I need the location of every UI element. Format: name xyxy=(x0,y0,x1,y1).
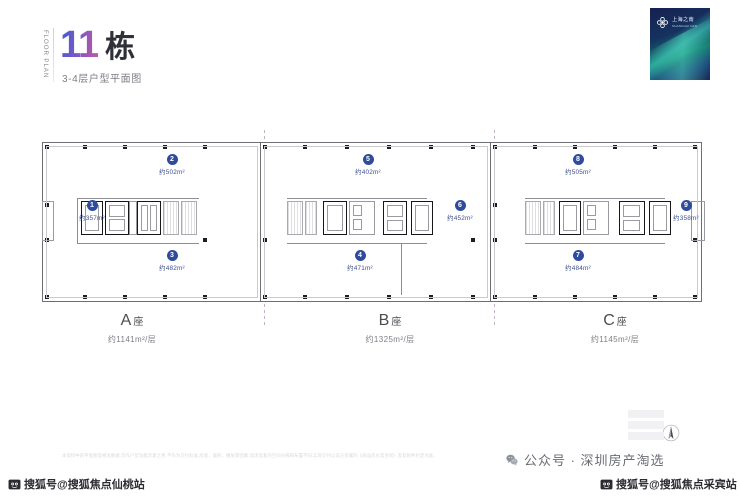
unit-badge-1: 1 xyxy=(87,200,98,211)
unit-marker-7[interactable]: 7 约484m² xyxy=(550,250,606,272)
public-account-watermark: 公众号 · 深圳房产淘选 xyxy=(505,450,665,469)
public-account-name: 公众号 · 深圳房产淘选 xyxy=(524,450,665,469)
unit-marker-3[interactable]: 3 约482m² xyxy=(144,250,200,272)
unit-marker-5[interactable]: 5 约402m² xyxy=(340,154,396,176)
tower-caption-b: B座 约1325m²/层 xyxy=(310,312,470,345)
page-subtitle: 3-4层户型平面图 xyxy=(62,70,142,85)
unit-badge-4: 4 xyxy=(355,250,366,261)
sohu-logo-icon xyxy=(8,478,21,491)
unit-badge-6: 6 xyxy=(455,200,466,211)
unit-badge-8: 8 xyxy=(573,154,584,165)
unit-area-1: 约357m² xyxy=(64,213,120,222)
unit-area-9: 约358m² xyxy=(658,213,714,222)
tower-c-area: 约1145m²/层 xyxy=(535,334,695,345)
unit-marker-6[interactable]: 6 约452m² xyxy=(432,200,488,222)
unit-area-5: 约402m² xyxy=(340,167,396,176)
tower-b-area: 约1325m²/层 xyxy=(310,334,470,345)
unit-badge-2: 2 xyxy=(167,154,178,165)
tower-a-area: 约1141m²/层 xyxy=(52,334,212,345)
unit-area-6: 约452m² xyxy=(432,213,488,222)
unit-area-8: 约505m² xyxy=(550,167,606,176)
tower-a-name: A座 xyxy=(52,312,212,330)
disclaimer-text: 本资料中的平面图及相关数据,仅作户型功能示意之用,不作为交付标准,房屋、面积、楼… xyxy=(62,452,462,459)
unit-badge-7: 7 xyxy=(573,250,584,261)
unit-marker-9[interactable]: 9 约358m² xyxy=(658,200,714,222)
unit-area-7: 约484m² xyxy=(550,263,606,272)
tower-caption-a: A座 约1141m²/层 xyxy=(52,312,212,345)
unit-badge-5: 5 xyxy=(363,154,374,165)
unit-area-2: 约502m² xyxy=(144,167,200,176)
tower-b-name: B座 xyxy=(310,312,470,330)
unit-marker-8[interactable]: 8 约505m² xyxy=(550,154,606,176)
brand-logo-box: 上海之南 SHANGHAI NAN xyxy=(650,8,710,80)
building-unit-word: 栋 xyxy=(105,33,135,63)
unit-area-4: 约471m² xyxy=(332,263,388,272)
artifact-block-1 xyxy=(628,410,664,418)
artifact-block-2 xyxy=(628,421,664,429)
artifact-block-3 xyxy=(628,432,664,440)
sohu-watermark-left-text: 搜狐号@搜狐焦点仙桃站 xyxy=(24,476,145,492)
brand-name-block: 上海之南 SHANGHAI NAN xyxy=(672,17,697,28)
unit-marker-2[interactable]: 2 约502m² xyxy=(144,154,200,176)
page-header: FLOOR PLAN 11 栋 3-4层户型平面图 上海之南 SHANGHAI xyxy=(0,0,740,100)
unit-badge-9: 9 xyxy=(681,200,692,211)
floor-plan-drawing: 1 约357m² 2 约502m² 3 约482m² 4 约471m² 5 约4… xyxy=(42,142,702,302)
brand-name: 上海之南 xyxy=(672,17,697,24)
page-title: 11 栋 xyxy=(60,26,135,70)
floor-plan-page: FLOOR PLAN 11 栋 3-4层户型平面图 上海之南 SHANGHAI xyxy=(0,0,740,499)
tower-c-name: C座 xyxy=(535,312,695,330)
title-divider-rule xyxy=(53,28,54,82)
unit-area-3: 约482m² xyxy=(144,263,200,272)
wechat-icon xyxy=(505,453,519,467)
unit-badge-3: 3 xyxy=(167,250,178,261)
sohu-logo-icon xyxy=(600,478,613,491)
unit-marker-4[interactable]: 4 约471m² xyxy=(332,250,388,272)
sohu-watermark-right: 搜狐号@搜狐焦点采宾站 xyxy=(600,476,737,492)
north-arrow-icon xyxy=(662,424,680,442)
tower-caption-c: C座 约1145m²/层 xyxy=(535,312,695,345)
sohu-watermark-right-text: 搜狐号@搜狐焦点采宾站 xyxy=(616,476,737,492)
unit-marker-1[interactable]: 1 约357m² xyxy=(64,200,120,222)
brand-subname: SHANGHAI NAN xyxy=(672,24,697,28)
quatrefoil-logo-icon xyxy=(656,16,669,29)
floor-plan-vertical-label: FLOOR PLAN xyxy=(34,30,48,84)
sohu-watermark-left: 搜狐号@搜狐焦点仙桃站 xyxy=(8,476,145,492)
building-number: 11 xyxy=(60,26,98,64)
